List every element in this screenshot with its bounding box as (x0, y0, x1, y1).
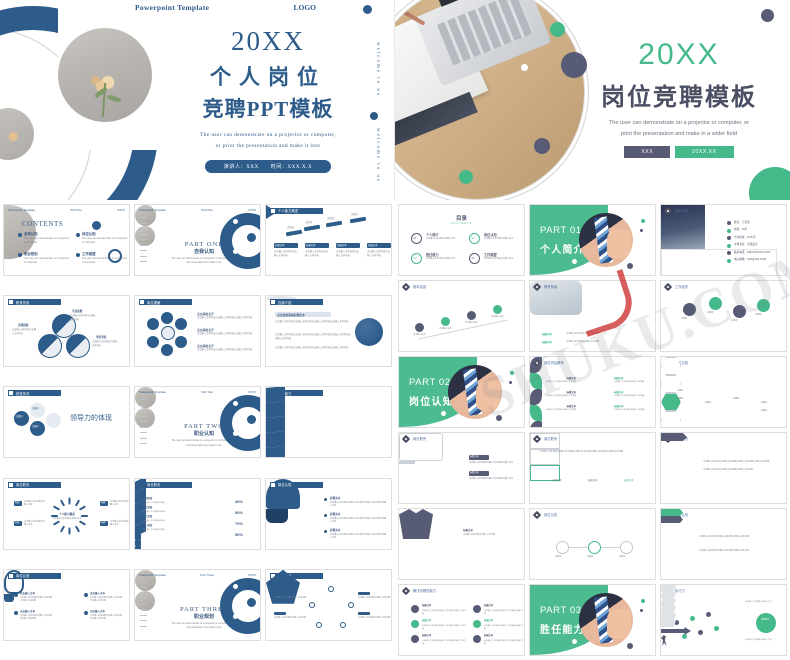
radial-dash (74, 525, 79, 532)
thumbnail-slide-blue-3[interactable]: 个人能力概述关键词关键词关键词关键词标题文本点击输入文本内容点击输入文本内容标题… (265, 204, 392, 276)
contents-item-desc: 点击输入文本内容点击输入文本 (484, 238, 524, 241)
presenter-label: 演讲人：XXX (224, 165, 259, 170)
accent-dot-white (455, 419, 463, 427)
chain-node (620, 541, 633, 554)
thumbnail-slide-green-7[interactable]: PART 02岗位认知 (398, 356, 525, 428)
arrow-step-label: 关键词 (287, 227, 294, 231)
rail-tick (140, 239, 147, 240)
venn-label-3: 学历背景 (96, 336, 106, 340)
runner-note: 点击输入文本内容点击输入文本 (745, 639, 779, 642)
rail-tick (140, 405, 147, 406)
accent-dot (510, 371, 514, 375)
ring-block-desc: 点击输入文本内容点击输入文本内容点击输入文本内容 (197, 349, 253, 353)
rail-tick (140, 620, 147, 621)
stair-label: 02 (181, 522, 184, 526)
hero-button-right[interactable]: 20XX.XX (675, 146, 734, 158)
thumb-up-icon (607, 609, 631, 639)
thumb-header-label: 解决问题的能力 (413, 588, 436, 593)
pentagon-label: 点击输入文本内容点击输入文本内容 (274, 617, 306, 620)
leaf-right-desc: 点击输入文本内容点击输入文本内容 (614, 381, 654, 384)
venn-desc-1: 点击输入文本内容点击输入文本内容 (12, 329, 38, 336)
thumbnail-slide-green-16[interactable]: 解决问题的能力标题文本点击输入文本内容点击输入文本内容点击输入文本内容标题文本点… (398, 584, 525, 656)
thumbnail-slide-blue-10[interactable]: 岗位职责个人能力概述点击输入文本内容点击输入文本标题点击输入文本内容点击输入文本… (3, 478, 130, 550)
part-hole-1 (233, 219, 238, 224)
plant-point-desc: 点击输入文本内容点击输入文本内容点击输入文本内容点击输入文本 (330, 502, 388, 509)
profile-row-icon (727, 259, 731, 263)
diamond-center-dot (405, 590, 408, 593)
radial-node-tag-label: 标题 (15, 522, 19, 525)
ring-icon-node (161, 312, 173, 324)
header-square-icon (271, 483, 275, 487)
thumbnail-slide-green-13[interactable]: 岗位职责标题文本点击输入文本内容点击输入文本内容 (398, 508, 525, 580)
three-cards-intro: 点击输入文本内容点击输入文本内容点击输入文本内容点击输入文本内容点击输入文本内容 (540, 451, 654, 455)
arrow-step-bar (286, 230, 302, 237)
bubble-label: 关键词 (16, 416, 23, 419)
thumbnail-slide-blue-6[interactable]: 自我介绍点击此处添加标题文本点击输入文本内容点击输入文本内容点击输入文本内容点击… (265, 295, 392, 367)
timeline-node (467, 311, 476, 320)
thumb-header-label: 岗位内容解析 (544, 360, 564, 365)
pentagon-tag (358, 592, 370, 595)
header-square-icon (271, 209, 275, 213)
leaf-right-desc: 点击输入文本内容点击输入文本内容 (614, 409, 654, 412)
header-template-label: Powerpoint Template (135, 3, 209, 12)
header-square-icon (9, 300, 13, 304)
runner-step-block (660, 606, 676, 613)
ring-icon-node (147, 336, 159, 348)
stair-stage-desc: 点击输入文本内容点击输入文本 (143, 502, 167, 508)
contents-title-en: CONTENTS (399, 222, 524, 226)
accent-dot (627, 263, 633, 269)
part-title: 岗位认知 (409, 393, 454, 408)
ribbon-line: 点击输入文本内容点击输入文本内容点击输入文本内容点击输入文本内容 (703, 461, 783, 464)
thumb-header-label: 基本信息 (413, 284, 426, 289)
hero-right-title-block: 20XX 岗位竞聘模板 The user can demonstrate on … (575, 40, 783, 158)
contents-item-desc: 点击输入文本内容点击输入文本 (484, 258, 524, 261)
ring-icon-node (147, 318, 159, 330)
thumb-header-label: 个人能力概述 (278, 208, 298, 213)
pentagon-tag (274, 612, 286, 615)
pentagon-node (348, 602, 354, 608)
radial-dash (59, 499, 64, 506)
globe-para: 点击输入文本内容点击输入文本内容点击输入文本内容点击输入文本内容 (275, 347, 351, 351)
six-point-title: 标题文本 (422, 635, 431, 639)
thumbnail-slide-green-2[interactable]: PART 01个人简介 (529, 204, 656, 276)
runner-step-block (660, 613, 676, 620)
diamond-center-dot (536, 286, 539, 289)
pentagon-label: 点击输入文本内容点击输入文本内容 (358, 617, 390, 620)
six-point-title: 标题文本 (422, 605, 431, 609)
accent-dot-white (441, 411, 446, 416)
thumbnail-slide-green-17[interactable]: PART 03胜任能力 (529, 584, 656, 656)
hex-cell-label: 关键词 (705, 410, 711, 413)
three-card-label: 标题文本 (552, 479, 562, 483)
six-point-icon (473, 605, 481, 613)
runner-step-dot (698, 630, 703, 635)
thumbnail-slide-green-11[interactable]: 岗位职责点击输入文本内容点击输入文本内容点击输入文本内容点击输入文本内容点击输入… (529, 432, 656, 504)
pentagon-node (328, 586, 334, 592)
thumb-up-icon (476, 381, 500, 411)
pentagon-tag (358, 612, 370, 615)
cluster-label: 关键词 (707, 312, 713, 315)
arrow-step-bar (304, 225, 320, 232)
thumb-header-label: 岗位职责 (147, 482, 161, 487)
radial-node-tag-label: 标题 (15, 502, 19, 505)
badge-cell-label: 关键词 (285, 413, 292, 417)
bulb-bullet (84, 593, 88, 597)
header-square-icon (9, 483, 13, 487)
hero-slide-blue[interactable]: Powerpoint Template LOGO 20XX 个人岗位 竞聘PPT… (0, 0, 395, 200)
cluster-icon (757, 299, 770, 312)
badge-cell-label: 关键词 (309, 433, 316, 437)
thumbnail-slide-blue-8[interactable]: Powerpoint TemplatePart TwoXXXXPART TWO职… (134, 386, 261, 458)
percent-label: 50% (235, 532, 243, 538)
chain-link (601, 547, 620, 548)
ring-icon-node (161, 344, 173, 356)
badge-cell-label: 关键词 (309, 413, 316, 417)
arrow-step-label: 关键词 (327, 218, 334, 222)
thumb-header-label: 岗位理解 (147, 300, 161, 305)
six-point-title: 标题文本 (484, 620, 493, 624)
profile-row-label: 毕业院校：XX大学 (734, 236, 756, 240)
contents-ring (108, 249, 122, 263)
radial-center-sub: 点击输入文本内容点击输入文本 (52, 518, 82, 521)
thumbnail-slide-blue-11[interactable]: 岗位职责0102030405第一阶段点击输入文本内容点击输入文本第二阶段点击输入… (134, 478, 261, 550)
plant-point-title: 标题文本 (330, 529, 340, 533)
thumbnail-slide-blue-13[interactable]: 岗位认知点击输入文本点击输入文本内容点击输入文本内容点击输入文本内容点击输入文本… (3, 569, 130, 641)
three-card-label: 标题文本 (624, 479, 634, 483)
part-hole-2 (233, 249, 238, 254)
step-card-desc: 点击输入文本内容点击输入文本内容 (305, 251, 330, 258)
plant-bullet (324, 498, 327, 501)
part-hole-2 (233, 614, 238, 619)
leaf-left-shape (530, 421, 542, 428)
rail-tick (140, 228, 147, 229)
runner-badge-label: 胜任能力 (757, 619, 774, 622)
thumbnail-slide-green-9[interactable]: 岗位认知关键词关键词关键词关键词关键词关键词关键词关键词 (660, 356, 787, 428)
rail-tick (140, 256, 147, 257)
tag-row-tag (661, 509, 683, 516)
rail-tick (140, 427, 147, 428)
thumb-header-label: 岗位认知 (16, 573, 30, 578)
contents-num: 04 (472, 257, 475, 261)
hex-cell-label: 关键词 (733, 390, 739, 393)
runner-badge (756, 613, 776, 633)
arrow-step-label: 关键词 (351, 214, 358, 218)
bulb-point-title: 点击输入文本 (20, 610, 35, 614)
stair-stage-desc: 点击输入文本内容点击输入文本 (143, 529, 167, 535)
leaf-left-desc: 点击输入文本内容点击输入文本内容 (536, 409, 576, 412)
accent-dot (641, 599, 645, 603)
topnav-item: Part One (201, 208, 213, 213)
profile-row-label: 电子邮箱：XXX@163.COM (734, 258, 766, 262)
contents-item-desc: The user can demonstrate on a projector … (24, 257, 70, 265)
thumb-header-label: 教育背景 (544, 284, 557, 289)
hero-year: 20XX (178, 28, 358, 55)
rail-tick (140, 626, 147, 627)
runner-arrow-icon (661, 627, 691, 635)
diamond-icon (402, 283, 410, 291)
thumbnail-slide-blue-4[interactable]: 教育背景专业技能实践经验学历背景点击输入文本内容点击输入文本内容点击输入文本内容… (3, 295, 130, 367)
accent-dot (640, 609, 643, 612)
vertical-divider-dot (370, 112, 378, 120)
bubble-node (46, 413, 61, 428)
radial-dash (69, 497, 71, 504)
accent-dot-green-3 (746, 164, 790, 200)
thumbnail-slide-green-8[interactable]: 岗位内容解析标题文本点击输入文本内容点击输入文本内容标题文本点击输入文本内容点击… (529, 356, 656, 428)
thumbnail-slide-blue-1[interactable]: Powerpoint TemplatePart OneXXXXCONTENTS自… (3, 204, 130, 276)
timeline-node (493, 305, 502, 314)
thumb-header-label: 获奖情况 (16, 391, 30, 396)
topnav-item: Part Two (201, 390, 212, 395)
venn-desc-2: 点击输入文本内容点击输入文本内容 (92, 341, 120, 348)
hex-cell-label: 关键词 (677, 398, 683, 401)
six-point-icon (411, 635, 419, 643)
six-point-desc: 点击输入文本内容点击输入文本内容点击输入文本内容 (484, 625, 525, 631)
part-photo-circle-small (135, 591, 155, 611)
plant-point-desc: 点击输入文本内容点击输入文本内容点击输入文本内容点击输入文本 (330, 518, 388, 525)
contents-num: 02 (472, 237, 475, 241)
rail-tick (140, 443, 147, 444)
rail-tick (140, 223, 147, 224)
percent-label: 40% (235, 499, 243, 505)
chain-label: 关键词 (587, 556, 593, 559)
hero-right-year: 20XX (575, 40, 783, 70)
device-stand-icon (399, 461, 415, 464)
radial-dash (81, 515, 88, 517)
leaf-left-desc: 点击输入文本内容点击输入文本内容 (536, 395, 576, 398)
accent-dot-white (586, 647, 594, 655)
accent-dot-white (572, 259, 577, 264)
ring-block-title: 点击添加文字 (197, 328, 214, 332)
stair-label: 05 (208, 501, 211, 505)
handshake-block-title: 标题文本 (542, 333, 552, 337)
thumbnail-slide-green-14[interactable]: 岗位认知关键词关键词关键词 (529, 508, 656, 580)
hero-right-subtitle-line2: print the presentation and make in a wid… (575, 129, 783, 140)
three-card-label: 标题文本 (588, 479, 598, 483)
rail-tick (140, 217, 147, 218)
chain-link (569, 547, 588, 548)
accent-dot (641, 219, 645, 223)
hex-cell-label: 关键词 (677, 390, 683, 393)
radial-dash (53, 505, 60, 510)
hero-button-left[interactable]: XXX (624, 146, 670, 158)
bubble-label: 关键词 (32, 426, 39, 429)
step-card-desc: 点击输入文本内容点击输入文本内容 (336, 251, 361, 258)
six-point-icon (473, 635, 481, 643)
thumbnail-slide-green-3[interactable]: 基本信息姓名：王某某年龄：26岁毕业院校：XX大学主修专业：平面设计联系电话：1… (660, 204, 787, 276)
runner-step-block (660, 620, 676, 627)
thumb-topnav: Powerpoint TemplatePart TwoXXXX (139, 390, 256, 395)
thumbnail-slide-green-6[interactable]: 工作经历关键词关键词关键词关键词 (660, 280, 787, 352)
thumbnail-slide-blue-7[interactable]: 获奖情况关键词关键词关键词领导力的体现 (3, 386, 130, 458)
profile-row-icon (727, 244, 731, 248)
ribbon-tag-label: 标题文本 (674, 465, 684, 469)
ring-block-desc: 点击输入文本内容点击输入文本内容点击输入文本内容 (197, 333, 253, 337)
thumbnail-slide-blue-9[interactable]: 专项能力关键词关键词关键词关键词关键词关键词关键词关键词 (265, 386, 392, 458)
thumbnail-slide-blue-15[interactable]: 岗位认知点击输入文本内容点击输入文本内容点击输入文本内容点击输入文本内容点击输入… (265, 569, 392, 641)
contents-bullet (18, 233, 22, 237)
step-card-tag-label: 标题文本 (337, 244, 347, 248)
topnav-item: Powerpoint Template (139, 390, 166, 395)
thumb-topnav: Powerpoint TemplatePart OneXXXX (139, 208, 256, 213)
header-square-icon (9, 574, 13, 578)
hero-slide-green[interactable]: 20XX 岗位竞聘模板 The user can demonstrate on … (395, 0, 790, 200)
contents-bullet (76, 233, 80, 237)
bulb-bullet (14, 611, 18, 615)
thumbnail-grid-green: 目录CONTENTS01个人简介点击输入文本内容点击输入文本02岗位认知点击输入… (395, 200, 790, 660)
contents-num: 01 (414, 237, 417, 241)
contents-title: CONTENTS (22, 219, 63, 230)
badge-cell (266, 446, 285, 458)
time-label: 时间：XXX.X.X (271, 165, 313, 170)
thumbnail-slide-green-1[interactable]: 目录CONTENTS01个人简介点击输入文本内容点击输入文本02岗位认知点击输入… (398, 204, 525, 276)
six-point-icon (473, 620, 481, 628)
ring-center-icon (161, 326, 175, 340)
bulb-point-desc: 点击输入文本内容点击输入文本内容点击输入文本内容 (20, 597, 52, 603)
part-photo-circle-small (135, 226, 155, 246)
thumb-up-icon (607, 229, 631, 259)
part-label: PART 03 (540, 605, 582, 616)
leaf-right-desc: 点击输入文本内容点击输入文本内容 (614, 395, 654, 398)
tag-row-text: 点击输入文本内容点击输入文本内容点击输入文本内容 (699, 550, 783, 553)
contents-dot (92, 221, 101, 230)
accent-dot-white (521, 64, 528, 71)
thumbnail-slide-green-15[interactable]: 岗位认知点击输入文本内容点击输入文本内容点击输入文本内容点击输入文本内容点击输入… (660, 508, 787, 580)
thumbnail-slide-blue-2[interactable]: Powerpoint TemplatePart OneXXXXPART ONE自… (134, 204, 261, 276)
contents-item-desc: 点击输入文本内容点击输入文本 (426, 238, 466, 241)
badge-cell-label: 关键词 (285, 433, 292, 437)
plant-point-title: 标题文本 (330, 497, 340, 501)
accent-dot (627, 643, 633, 649)
rail-tick (140, 604, 147, 605)
device-block-desc: 点击输入文本内容点击输入文本内容点击输入文本 (469, 462, 521, 465)
header-square-icon (9, 391, 13, 395)
topnav-item: Powerpoint Template (139, 573, 166, 578)
plant-point-title: 标题文本 (330, 513, 340, 517)
profile-row-label: 主修专业：平面设计 (734, 243, 757, 247)
diamond-center-dot (536, 514, 539, 517)
diamond-center-dot (667, 286, 670, 289)
globe-heading: 点击此处添加标题文本 (277, 313, 305, 317)
plant-bullet (324, 530, 327, 533)
thumbnail-slide-green-12[interactable]: 岗位职责标题文本点击输入文本内容点击输入文本内容点击输入文本内容点击输入文本内容… (660, 432, 787, 504)
percent-label: 70% (235, 521, 243, 527)
diamond-center-dot (667, 210, 670, 213)
timeline-node (415, 323, 424, 332)
rail-tick (140, 593, 147, 594)
thumbnail-slide-green-5[interactable]: 教育背景标题文本点击输入文本内容点击输入文本内容标题文本点击输入文本内容点击输入… (529, 280, 656, 352)
hero-subtitle-line2: or print the presentation and make it in… (178, 141, 358, 152)
hero-title-line2: 竞聘PPT模板 (178, 93, 358, 123)
thumbnail-slide-green-10[interactable]: 岗位职责标题文本点击输入文本内容点击输入文本内容点击输入文本标题文本点击输入文本… (398, 432, 525, 504)
profile-row-icon (727, 236, 731, 240)
header-logo-label: LOGO (293, 3, 316, 12)
leaf-left-desc: 点击输入文本内容点击输入文本内容 (536, 381, 576, 384)
profile-row-icon (727, 221, 731, 225)
thumbnail-slide-blue-12[interactable]: 岗位认知标题文本点击输入文本内容点击输入文本内容点击输入文本内容点击输入文本标题… (265, 478, 392, 550)
runner-step-block (660, 585, 676, 592)
thumb-topnav: Powerpoint TemplatePart ThreeXXXX (139, 573, 256, 578)
hero-slides-row: Powerpoint Template LOGO 20XX 个人岗位 竞聘PPT… (0, 0, 790, 200)
step-card-desc: 点击输入文本内容点击输入文本内容 (274, 251, 299, 258)
hex-cell (661, 393, 681, 411)
accent-dot-purple-3 (761, 9, 774, 22)
accent-dot-white (586, 267, 594, 275)
part-label: PART 01 (540, 225, 582, 236)
ring-block-title: 点击添加文字 (197, 312, 214, 316)
venn-label-2: 实践经验 (18, 324, 28, 328)
profile-row-icon (727, 251, 731, 255)
rail-tick (140, 250, 147, 251)
contents-bullet (18, 253, 22, 257)
hero-title-line1: 个人岗位 (178, 61, 358, 91)
radial-center-label: 个人能力概述 (54, 513, 80, 517)
diamond-center-dot (405, 438, 408, 441)
ribbon-line: 点击输入文本内容点击输入文本内容点击输入文本内容 (703, 469, 783, 472)
diamond-center-dot (536, 438, 539, 441)
hero-right-buttons: XXX 20XX.XX (575, 146, 783, 158)
chain-node (588, 541, 601, 554)
profile-row-icon (727, 229, 731, 233)
part-thumbup-photo (448, 365, 502, 419)
thumbnail-slide-green-4[interactable]: 基本信息点击输入文本点击输入文本点击输入文本点击输入文本 (398, 280, 525, 352)
thumbnail-slide-green-18[interactable]: 执行力胜任能力点击输入文本内容点击输入文本点击输入文本内容点击输入文本 (660, 584, 787, 656)
bulb-bullet (14, 593, 18, 597)
pentagon-node (309, 602, 315, 608)
plant-pot-icon (266, 509, 288, 523)
step-card-tag-label: 标题文本 (275, 244, 285, 248)
diamond-icon (402, 587, 410, 595)
runner-icon (661, 635, 668, 646)
hero-right-subtitle-line1: The user can demonstrate on a projector … (575, 118, 783, 129)
thumbnail-slide-blue-5[interactable]: 岗位理解点击添加文字点击输入文本内容点击输入文本内容点击输入文本内容点击添加文字… (134, 295, 261, 367)
cluster-label: 关键词 (681, 318, 687, 321)
radial-node-text: 点击输入文本内容点击输入文本 (24, 501, 46, 508)
topnav-item: Part One (70, 208, 82, 213)
hero-left-title-block: 20XX 个人岗位 竞聘PPT模板 The user can demonstra… (178, 28, 358, 173)
six-point-title: 标题文本 (484, 605, 493, 609)
venn-circle (66, 334, 90, 358)
pentagon-label: 点击输入文本内容点击输入文本内容 (274, 597, 306, 600)
hex-cell (661, 411, 681, 428)
accent-dot (496, 415, 502, 421)
six-point-icon (411, 605, 419, 613)
part-photo-circle-small (135, 408, 155, 428)
bubble-big-title: 领导力的体现 (70, 413, 112, 424)
venn-circle (38, 334, 62, 358)
thumb-header-label: 岗位职责 (544, 436, 557, 441)
globe-icon (355, 318, 383, 346)
venn-desc-3: 点击输入文本内容点击输入文本内容 (70, 315, 98, 322)
radial-dash (53, 520, 60, 525)
bulb-point-desc: 点击输入文本内容点击输入文本内容点击输入文本内容 (20, 615, 52, 621)
ring-icon-node (175, 336, 187, 348)
chain-label: 关键词 (619, 556, 625, 559)
rail-tick (140, 432, 147, 433)
radial-node-text: 点击输入文本内容点击输入文本 (110, 521, 130, 528)
part-center-dot (247, 598, 256, 607)
decorative-white-dot (55, 168, 72, 185)
ring-block-title: 点击添加文字 (197, 344, 214, 348)
contents-item-desc: 点击输入文本内容点击输入文本 (426, 258, 466, 261)
chain-label: 关键词 (555, 556, 561, 559)
thumbnail-slide-blue-14[interactable]: Powerpoint TemplatePart ThreeXXXXPART TH… (134, 569, 261, 641)
stair-stage-desc: 点击输入文本内容点击输入文本 (143, 520, 167, 526)
vertical-welcome-text-bottom: welcome to us (375, 128, 380, 183)
step-card-tag-label: 标题文本 (368, 244, 378, 248)
radial-dash (59, 525, 64, 532)
arrow-step-bar (350, 217, 366, 224)
